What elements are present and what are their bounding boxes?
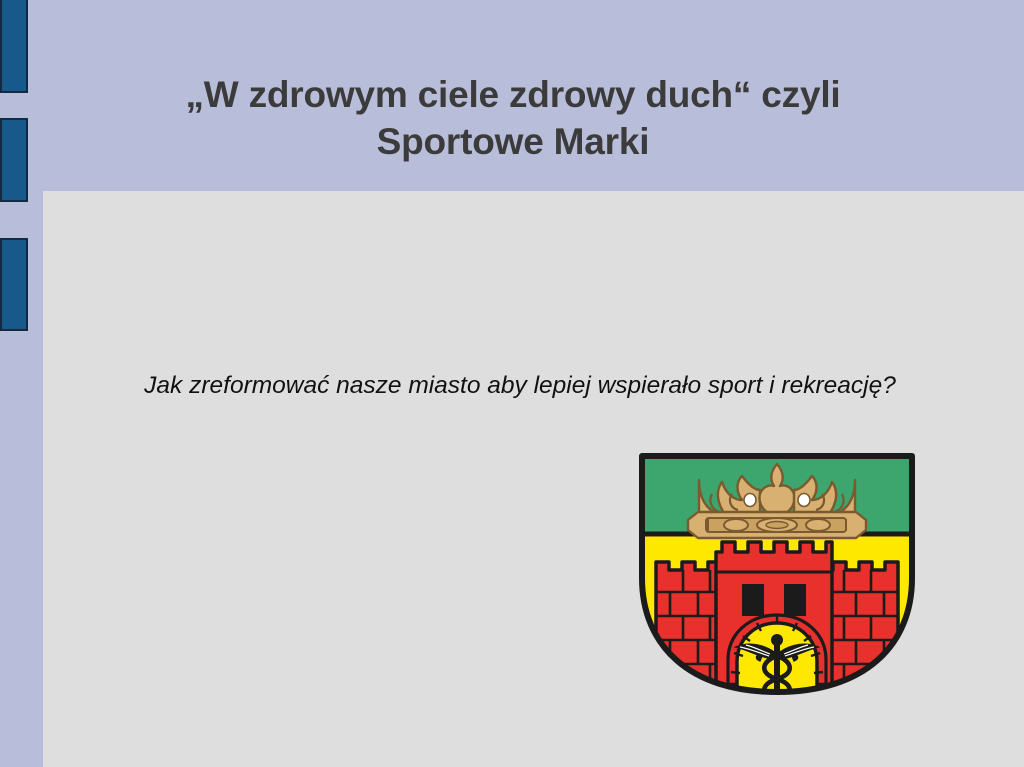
- castle-window-right: [784, 584, 806, 616]
- crown-pearl-right: [798, 494, 810, 507]
- coat-of-arms-marki: [636, 450, 918, 698]
- castle-window-left: [742, 584, 764, 616]
- crown-pearl-left: [744, 494, 756, 507]
- accent-bar-2: [0, 118, 28, 202]
- slide-subtitle: Jak zreformować nasze miasto aby lepiej …: [100, 370, 940, 402]
- slide-title: „W zdrowym ciele zdrowy duch“ czyli Spor…: [43, 72, 983, 165]
- accent-bar-3: [0, 238, 28, 331]
- slide-side-strip: [0, 0, 43, 767]
- presentation-slide: „W zdrowym ciele zdrowy duch“ czyli Spor…: [0, 0, 1024, 767]
- accent-bar-1: [0, 0, 28, 93]
